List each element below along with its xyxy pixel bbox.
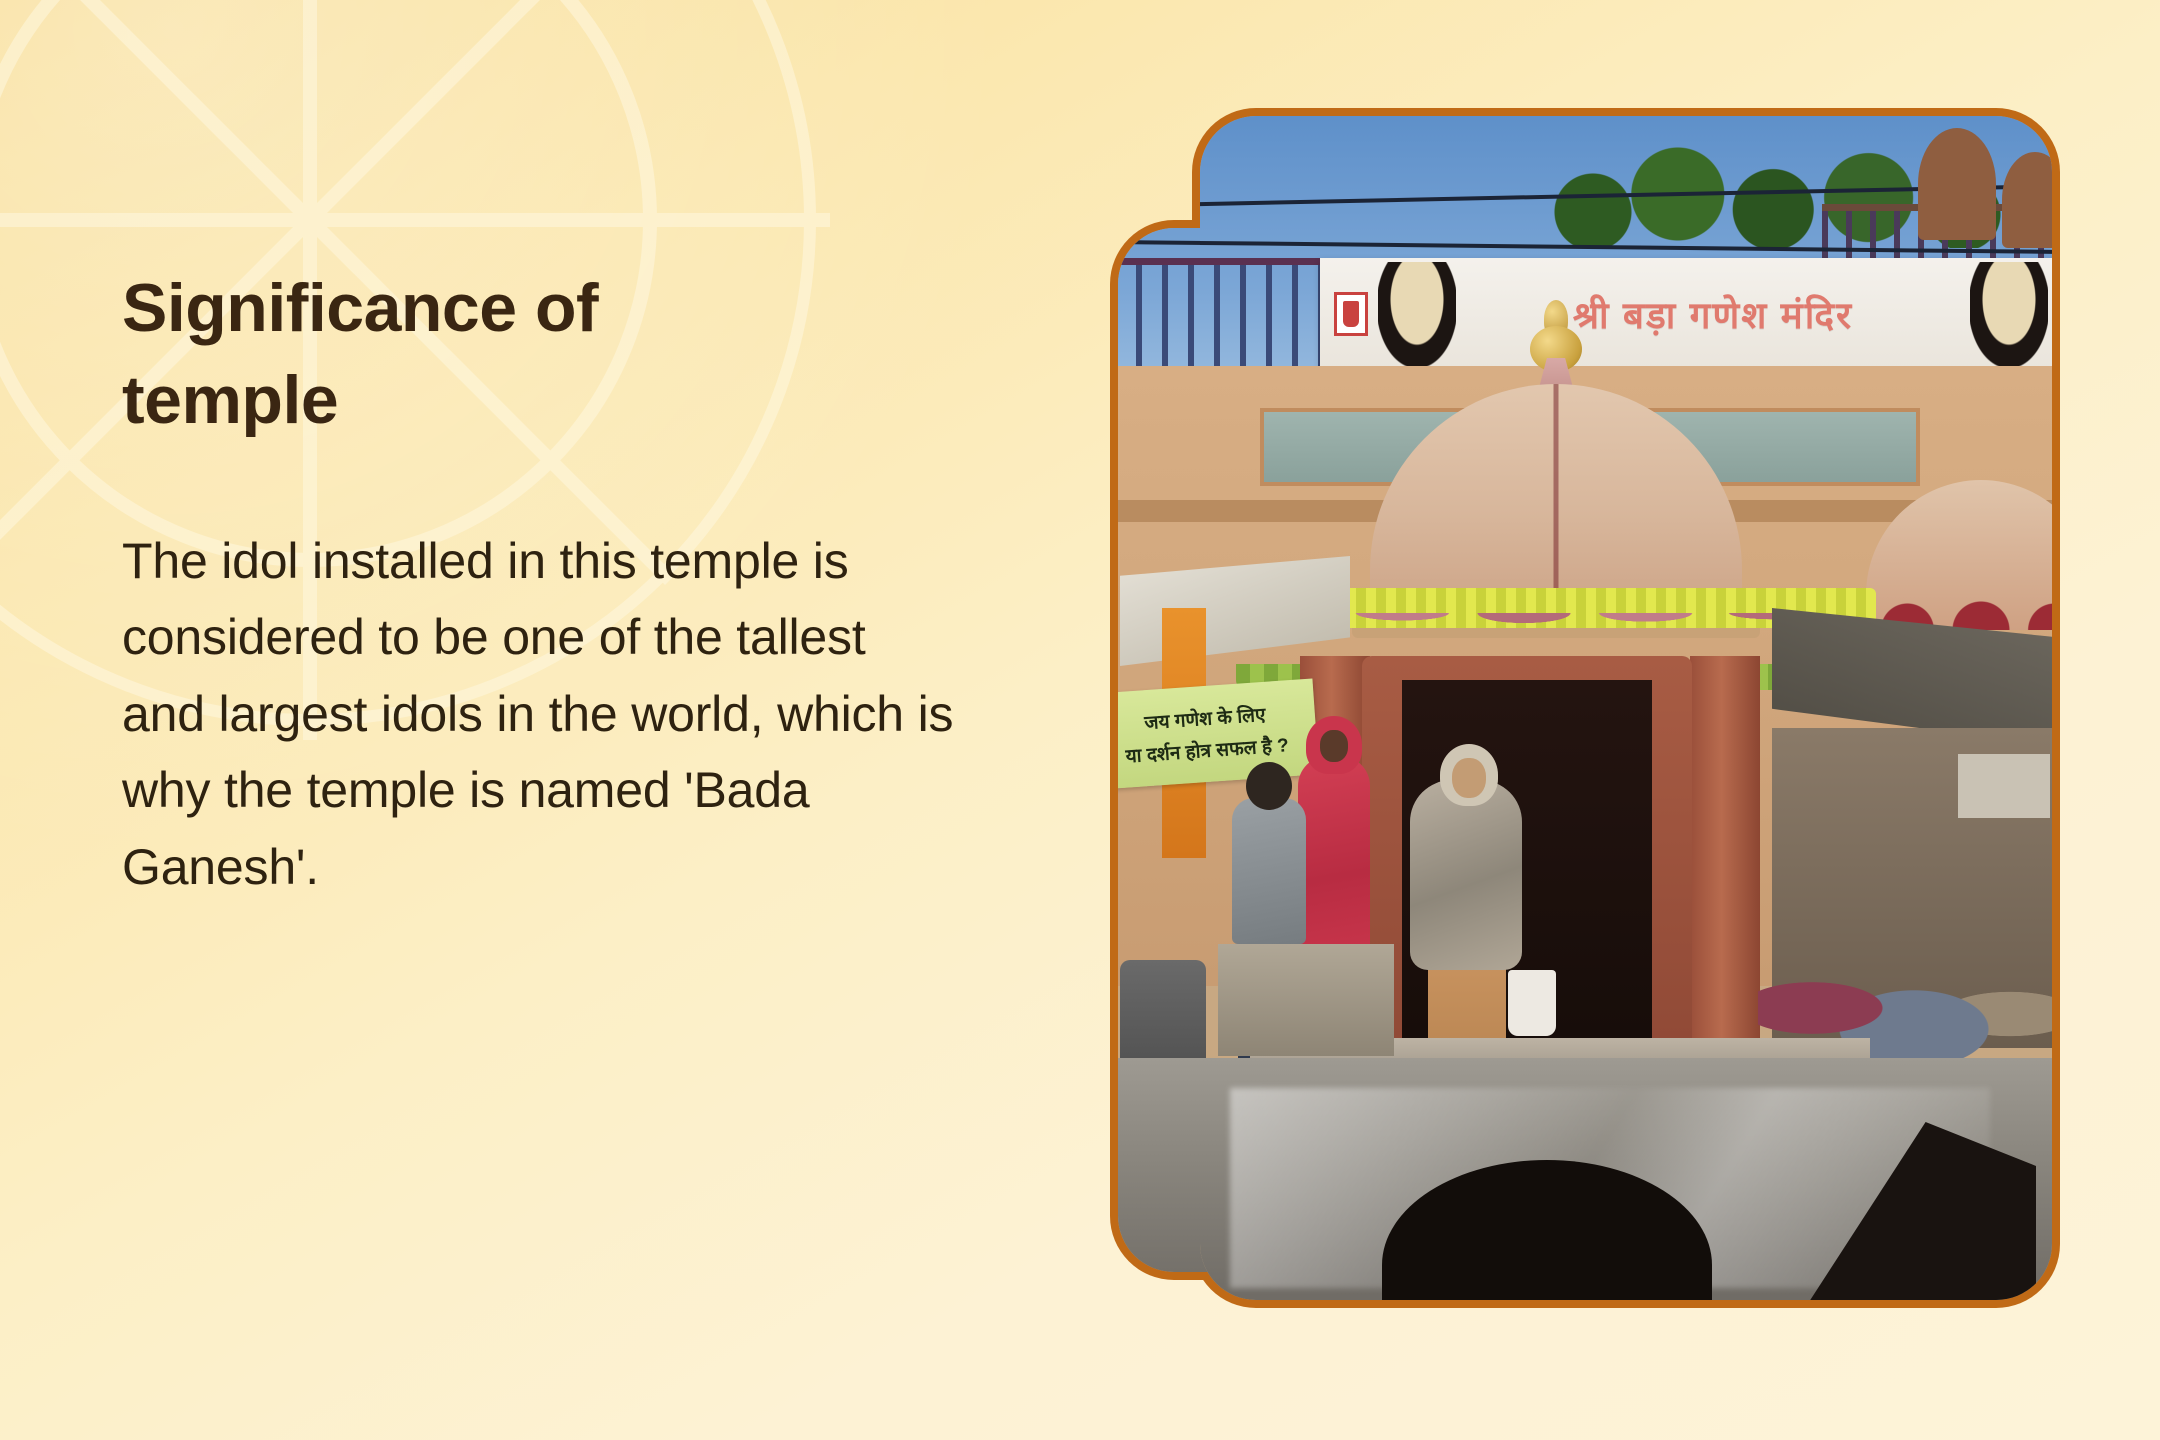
temple-photo-layer-main: श्री बड़ा गणेश मंदिर: [1200, 116, 2052, 1300]
temple-photo-card: श्री बड़ा गणेश मंदिर: [1110, 108, 2060, 1308]
temple-photo-image-main: श्री बड़ा गणेश मंदिर: [1200, 116, 2052, 1300]
green-banner-line1-main: जय गणेश के लिए: [1200, 701, 1266, 735]
text-column: Significance of temple The idol installe…: [122, 262, 962, 905]
body-paragraph: The idol installed in this temple is con…: [122, 523, 962, 906]
slide-canvas: Significance of temple The idol installe…: [0, 0, 2160, 1440]
page-title: Significance of temple: [122, 262, 812, 447]
